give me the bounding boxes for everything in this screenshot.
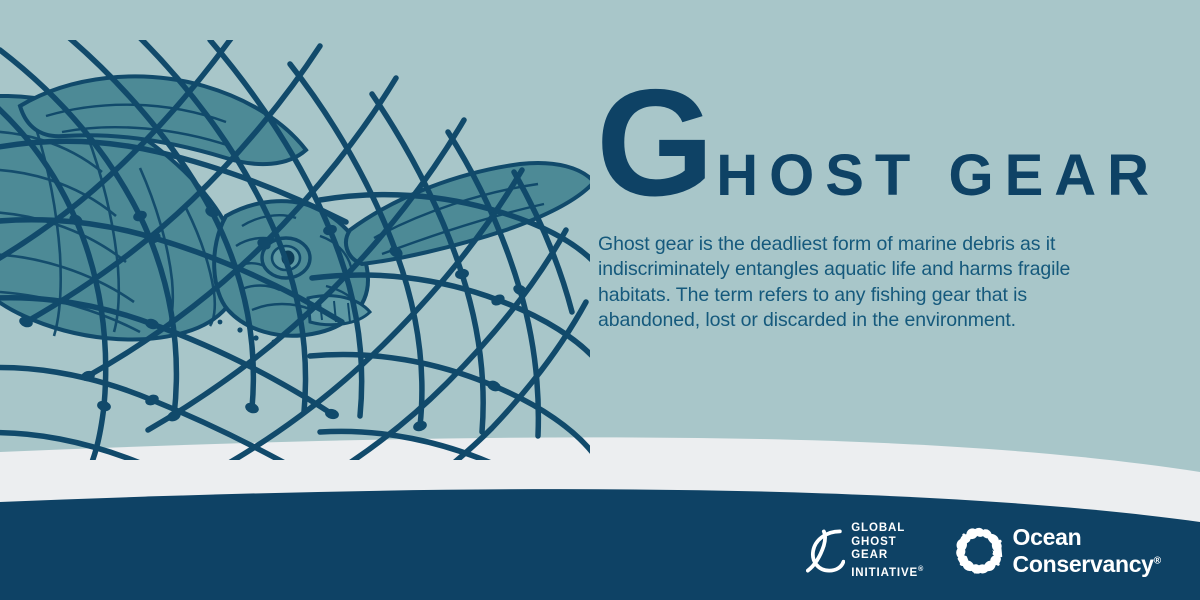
- gggi-line-1: GLOBAL: [851, 522, 928, 536]
- gggi-line-2: GHOST GEAR: [851, 536, 928, 563]
- gggi-line-3-wrap: INITIATIVE®: [851, 563, 928, 580]
- title-block: G HOST GEAR: [596, 84, 1136, 203]
- title-remainder: HOST GEAR: [712, 153, 1160, 202]
- ocean-conservancy-wordmark: Ocean Conservancy®: [1013, 524, 1200, 578]
- footer-logo-group: GLOBAL GHOST GEAR INITIATIVE®: [806, 516, 1200, 586]
- title-dropcap: G: [596, 84, 712, 203]
- ocean-conservancy-registered-mark: ®: [1154, 555, 1161, 566]
- ocean-conservancy-logo[interactable]: Ocean Conservancy®: [954, 521, 1200, 581]
- gggi-line-3: INITIATIVE: [851, 566, 918, 578]
- ocean-conservancy-name: Ocean Conservancy: [1013, 524, 1154, 577]
- gggi-registered-mark: ®: [918, 566, 923, 573]
- gggi-logo[interactable]: GLOBAL GHOST GEAR INITIATIVE®: [806, 522, 928, 580]
- ocean-conservancy-sea-life-wreath-icon: [954, 521, 1004, 581]
- infographic-canvas: G HOST GEAR Ghost gear is the deadliest …: [0, 0, 1200, 600]
- sea-turtle-in-net-illustration: [0, 40, 590, 460]
- gggi-wave-hook-icon: [806, 523, 845, 579]
- title-row: G HOST GEAR: [596, 84, 1136, 203]
- gggi-wordmark: GLOBAL GHOST GEAR INITIATIVE®: [851, 522, 928, 580]
- body-paragraph: Ghost gear is the deadliest form of mari…: [598, 232, 1114, 334]
